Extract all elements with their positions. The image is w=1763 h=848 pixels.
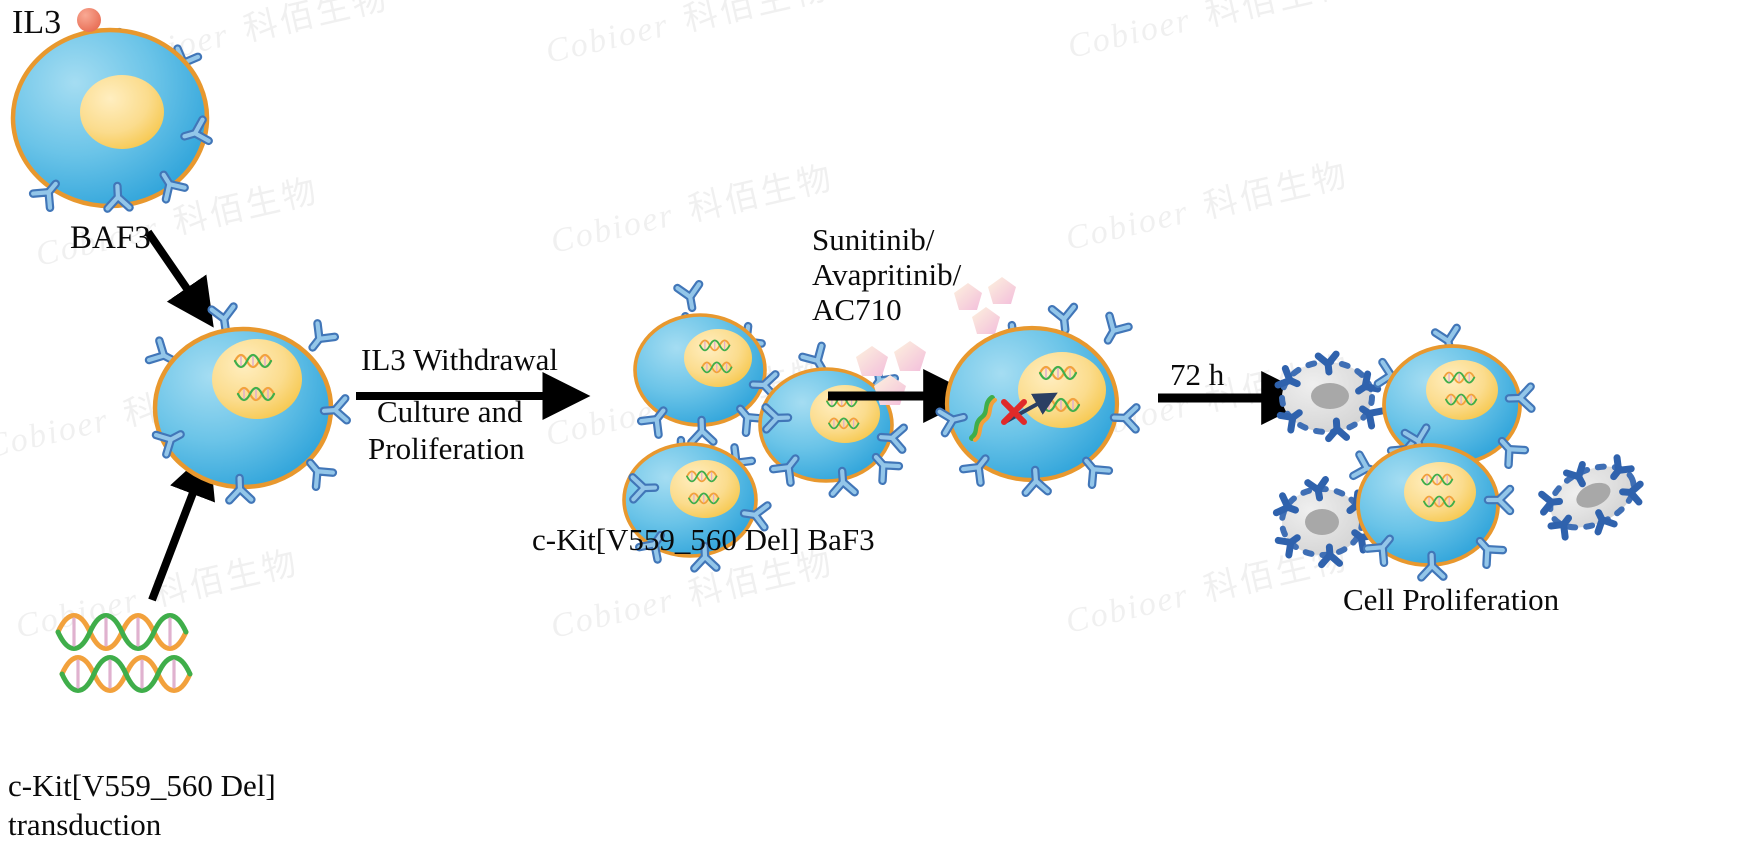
cell-nucleus bbox=[1404, 462, 1476, 522]
nucleus-dna-icon bbox=[1446, 395, 1476, 405]
nucleus-dna-icon bbox=[700, 340, 730, 350]
baf3-label: BAF3 bbox=[70, 218, 151, 258]
time-label: 72 h bbox=[1170, 356, 1224, 394]
nucleus-dna-icon bbox=[235, 355, 271, 367]
receptor-icon bbox=[1098, 316, 1128, 346]
receptor-icon bbox=[1052, 307, 1076, 331]
cell-nucleus bbox=[684, 329, 752, 387]
drug-molecule-icon bbox=[972, 307, 1000, 334]
cell-nucleus bbox=[1426, 360, 1498, 420]
transduction-label-line2: transduction bbox=[8, 806, 161, 844]
culture-label-line1: Culture and bbox=[377, 393, 523, 431]
drug-molecule-icon bbox=[894, 341, 926, 371]
proliferation-readout bbox=[1276, 328, 1651, 577]
diagram-svg bbox=[0, 0, 1763, 848]
nucleus-dna-icon bbox=[1444, 373, 1474, 383]
cell-nucleus bbox=[212, 339, 302, 419]
cluster-label: c-Kit[V559_560 Del] BaF3 bbox=[532, 521, 875, 559]
receptor-icon bbox=[304, 323, 335, 354]
inhibitor-treated-cell bbox=[940, 307, 1137, 493]
receptor-icon bbox=[677, 284, 702, 309]
drug-label-line2: Avapritinib/ bbox=[812, 256, 961, 294]
drug-molecule-icon bbox=[856, 346, 888, 376]
il3-ligand-icon bbox=[77, 8, 101, 32]
nucleus-dna-icon bbox=[238, 388, 274, 400]
dead-cell-nucleus bbox=[1311, 383, 1349, 409]
culture-label-line2: Proliferation bbox=[368, 430, 525, 468]
transduction-label-line1: c-Kit[V559_560 Del] bbox=[8, 767, 276, 805]
apoptotic-cell bbox=[1278, 354, 1382, 439]
nucleus-dna-icon bbox=[689, 493, 719, 503]
drug-molecule-icon bbox=[988, 277, 1016, 304]
outcome-label: Cell Proliferation bbox=[1343, 581, 1559, 619]
dead-cell-nucleus bbox=[1305, 509, 1339, 535]
il3-label: IL3 bbox=[12, 2, 61, 43]
apoptotic-cell bbox=[1532, 446, 1651, 549]
cluster-cell bbox=[635, 284, 775, 442]
cell-nucleus bbox=[670, 460, 740, 518]
cell-nucleus bbox=[80, 75, 164, 149]
transduced-cell bbox=[149, 307, 347, 501]
cell-nucleus bbox=[1018, 352, 1106, 428]
drug-label-line3: AC710 bbox=[812, 291, 902, 329]
il3-withdrawal-label: IL3 Withdrawal bbox=[361, 341, 558, 379]
nucleus-dna-icon bbox=[1424, 497, 1454, 507]
arrow-dna-to-transduced bbox=[152, 485, 196, 600]
nucleus-dna-icon bbox=[829, 418, 859, 428]
nucleus-dna-icon bbox=[1043, 399, 1079, 411]
arrow-baf3-to-transduced bbox=[148, 232, 192, 296]
transduction-dna bbox=[58, 616, 190, 691]
nucleus-dna-icon bbox=[687, 471, 717, 481]
figure-canvas: Cobioer科佰生物 Cobioer科佰生物 Cobioer科佰生物 Cobi… bbox=[0, 0, 1763, 848]
nucleus-dna-icon bbox=[1422, 475, 1452, 485]
nucleus-dna-icon bbox=[1040, 367, 1076, 379]
drug-label-line1: Sunitinib/ bbox=[812, 221, 934, 259]
nucleus-dna-icon bbox=[702, 362, 732, 372]
